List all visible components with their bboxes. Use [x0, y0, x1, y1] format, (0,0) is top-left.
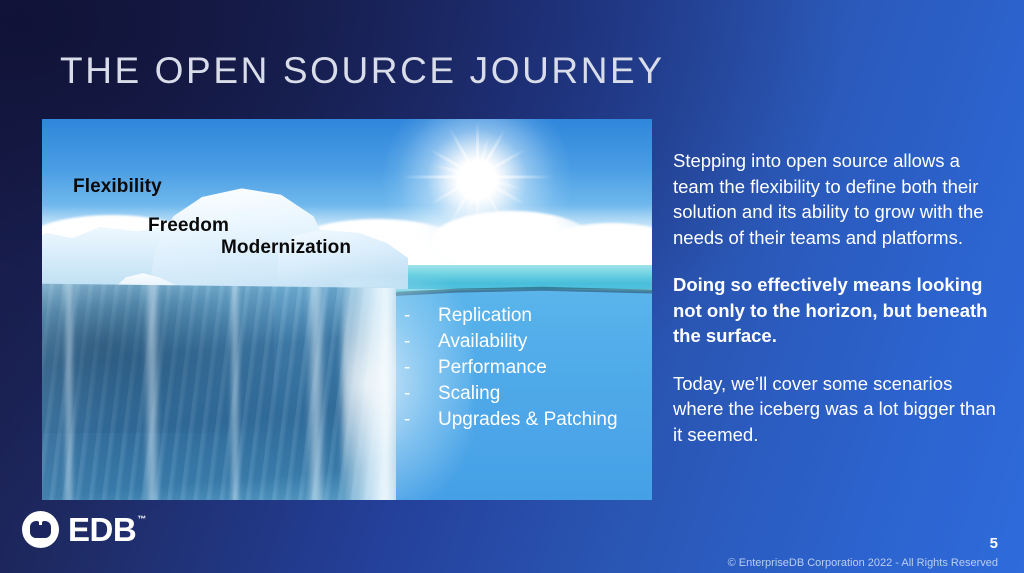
paragraph-emphasis: Doing so effectively means looking not o…	[673, 272, 999, 349]
bullet-marker: -	[404, 383, 438, 405]
list-item: - Performance	[404, 357, 644, 383]
iceberg-label-flexibility: Flexibility	[73, 176, 162, 198]
page-number: 5	[990, 535, 998, 552]
iceberg-label-freedom: Freedom	[148, 215, 229, 237]
edb-logo: EDB ™	[22, 511, 146, 548]
copyright-notice: © EnterpriseDB Corporation 2022 - All Ri…	[728, 557, 998, 569]
body-copy: Stepping into open source allows a team …	[673, 148, 999, 447]
bullet-label: Replication	[438, 305, 532, 327]
ice-streak	[64, 279, 74, 500]
bullet-marker: -	[404, 305, 438, 327]
bullet-marker: -	[404, 409, 438, 431]
edb-elephant-icon	[22, 511, 59, 548]
iceberg-label-modernization: Modernization	[221, 237, 351, 259]
trademark-icon: ™	[137, 514, 146, 524]
paragraph-outro: Today, we’ll cover some scenarios where …	[673, 371, 999, 448]
bullet-marker: -	[404, 357, 438, 379]
underwater-bullet-list: - Replication - Availability - Performan…	[404, 305, 644, 435]
list-item: - Scaling	[404, 383, 644, 409]
page-title: THE OPEN SOURCE JOURNEY	[60, 50, 665, 92]
list-item: - Availability	[404, 331, 644, 357]
bullet-label: Availability	[438, 331, 527, 353]
edb-wordmark: EDB	[68, 513, 136, 546]
bullet-marker: -	[404, 331, 438, 353]
ice-streak	[306, 279, 326, 500]
ice-streak	[230, 279, 240, 500]
bullet-label: Scaling	[438, 383, 500, 405]
ice-streak	[144, 279, 160, 500]
paragraph-intro: Stepping into open source allows a team …	[673, 148, 999, 250]
bullet-label: Performance	[438, 357, 547, 379]
spacer	[673, 250, 999, 272]
logo-glyph-right	[42, 521, 51, 538]
list-item: - Replication	[404, 305, 644, 331]
iceberg-photo: Flexibility Freedom Modernization - Repl…	[42, 119, 652, 500]
bullet-label: Upgrades & Patching	[438, 409, 618, 431]
spacer	[673, 349, 999, 371]
list-item: - Upgrades & Patching	[404, 409, 644, 435]
slide: THE OPEN SOURCE JOURNEY	[0, 0, 1024, 573]
